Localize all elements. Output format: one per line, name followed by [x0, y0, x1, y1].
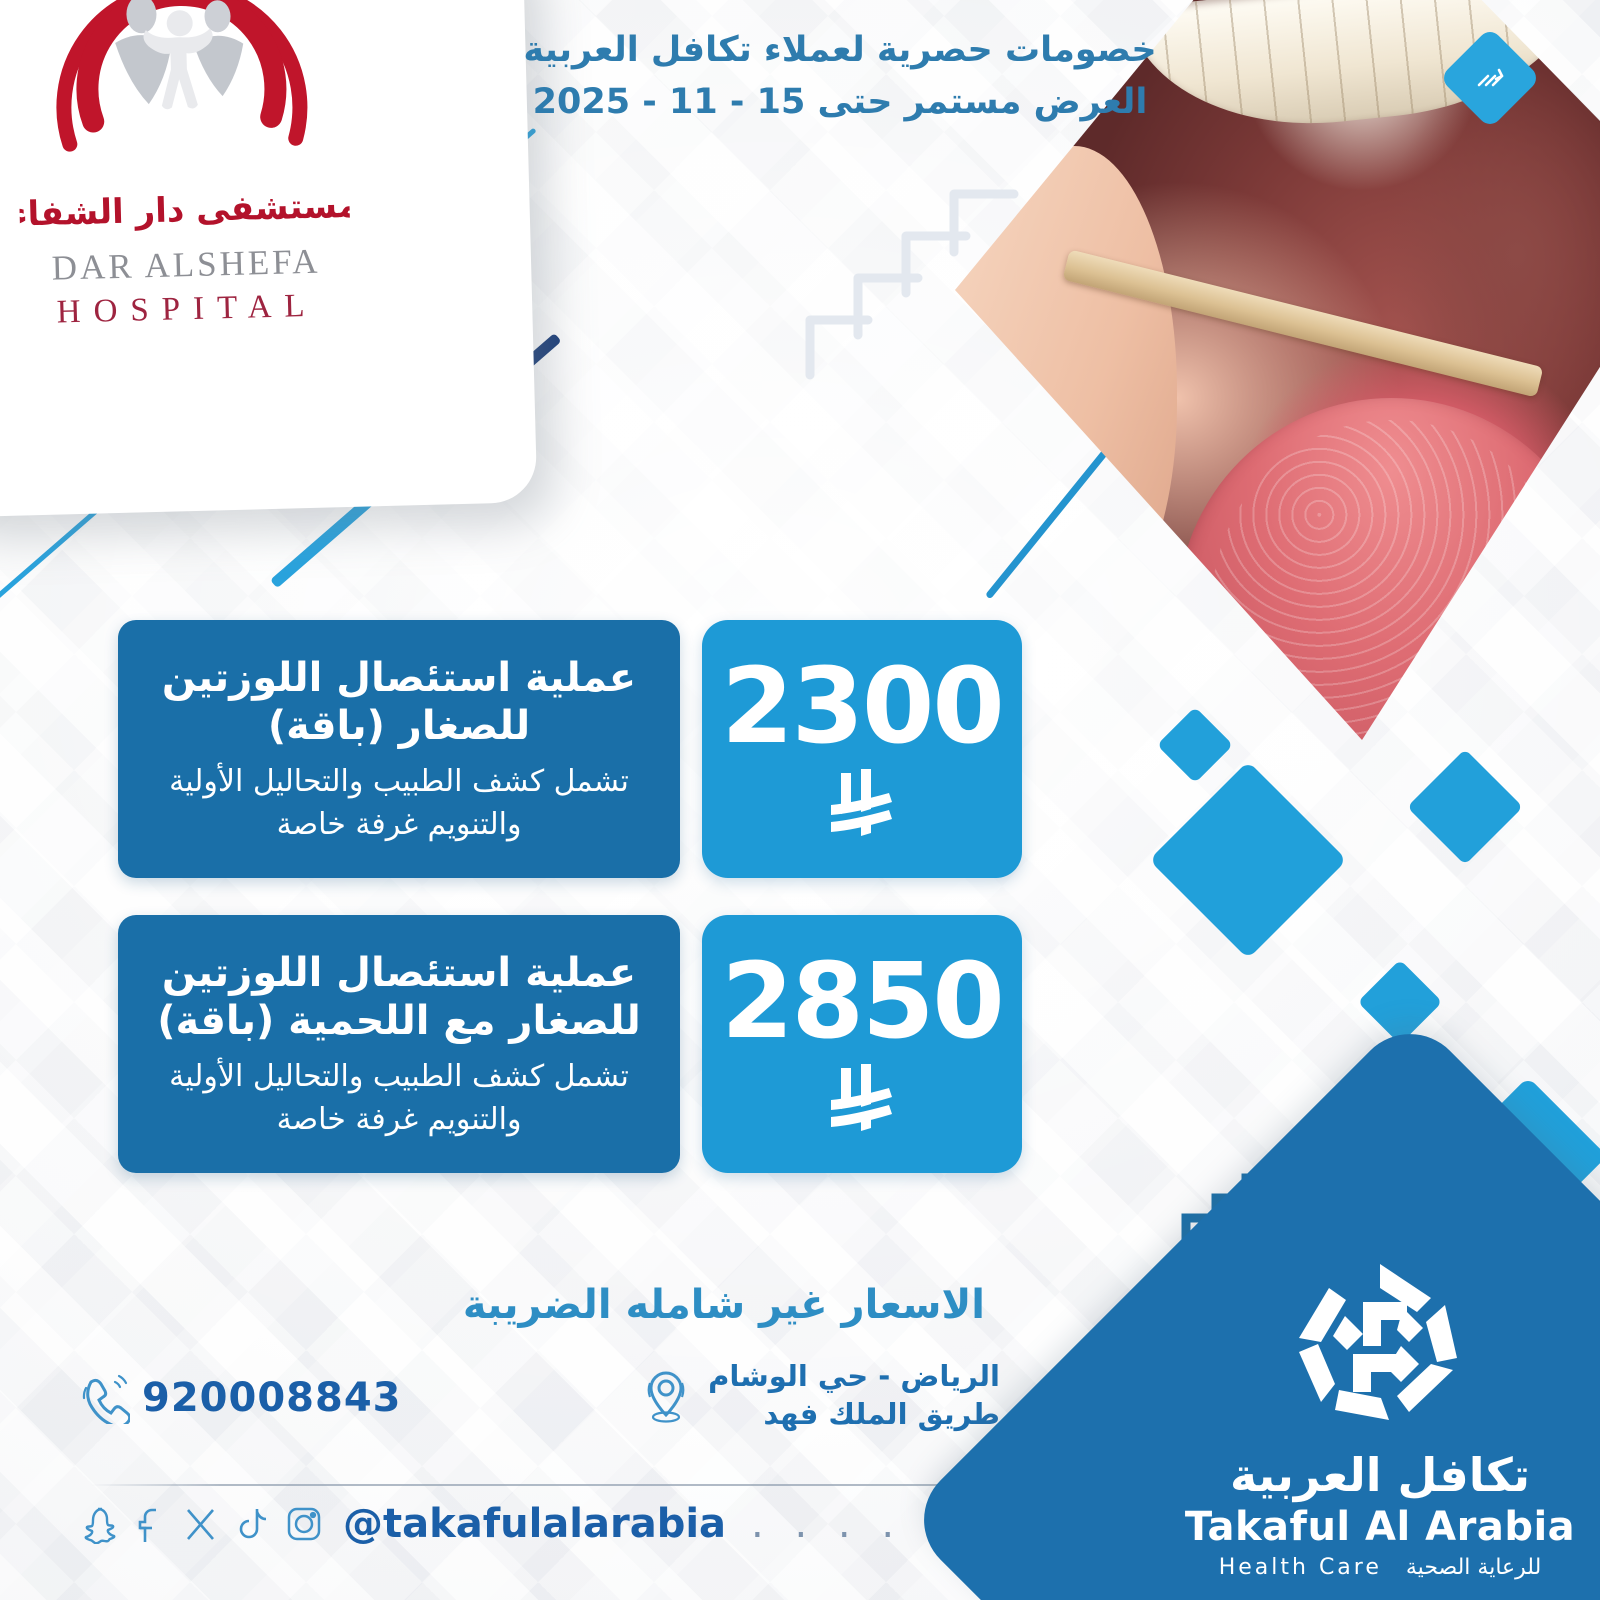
- offer-1-price-box: 2300: [702, 620, 1022, 878]
- address-text: الرياض - حي الوشام طريق الملك فهد: [708, 1358, 1000, 1433]
- snapchat-icon[interactable]: [78, 1504, 118, 1544]
- takaful-name-arabic: تكافل العربية: [1180, 1448, 1580, 1502]
- takaful-tagline-en: Health Care: [1219, 1555, 1382, 1580]
- arrow-chevrons-icon: [1475, 65, 1505, 91]
- family-people-crescent-icon: [43, 0, 318, 185]
- hospital-name-en-line2: HOSPITAL: [52, 288, 322, 332]
- offer-1-price: 2300: [721, 657, 1002, 756]
- social-handle[interactable]: @takafulalarabia: [343, 1501, 726, 1547]
- promo-line-1: خصومات حصرية لعملاء تكافل العربية: [520, 28, 1160, 74]
- svg-text:مستشفى دار الشفاء: مستشفى دار الشفاء: [19, 186, 350, 235]
- takaful-logo-block: تكافل العربية Takaful Al Arabia Health C…: [1180, 1250, 1580, 1580]
- offer-2-title: عملية استئصال اللوزتين للصغار مع اللحمية…: [144, 950, 654, 1044]
- offer-row-1: 2300 عملية استئصال اللوزتين للصغار (باقة…: [118, 620, 1022, 878]
- hospital-name-arabic-text: مستشفى دار الشفاء: [19, 181, 350, 238]
- tiktok-icon[interactable]: [233, 1504, 271, 1544]
- offer-1-subtitle: تشمل كشف الطبيب والتحاليل الأولية والتنو…: [144, 760, 654, 847]
- hospital-phone-block[interactable]: 920008843: [78, 1372, 402, 1424]
- instagram-icon[interactable]: [284, 1504, 324, 1544]
- facebook-icon[interactable]: [131, 1504, 169, 1544]
- hospital-name-en-line1: DAR ALSHEFA: [51, 242, 321, 289]
- tax-note: الاسعار غير شامله الضريبة: [463, 1282, 985, 1328]
- promo-line-2: العرض مستمر حتى 15 - 11 - 2025: [520, 80, 1160, 126]
- offer-2-price: 2850: [721, 952, 1002, 1051]
- hospital-logo-card: مستشفى دار الشفاء DAR ALSHEFA HOSPITAL: [0, 0, 537, 518]
- takaful-tagline: Health Care للرعاية الصحية: [1180, 1555, 1580, 1580]
- pinwheel-star-icon: [1285, 1250, 1475, 1430]
- x-twitter-icon[interactable]: [182, 1505, 220, 1543]
- takaful-name-english: Takaful Al Arabia: [1180, 1504, 1580, 1550]
- saudi-riyal-symbol: [825, 1060, 899, 1136]
- offer-1-desc-box: عملية استئصال اللوزتين للصغار (باقة) تشم…: [118, 620, 680, 878]
- hospital-name-arabic: مستشفى دار الشفاء: [19, 181, 350, 238]
- offer-2-desc-box: عملية استئصال اللوزتين للصغار مع اللحمية…: [118, 915, 680, 1173]
- hospital-phone-number: 920008843: [142, 1375, 402, 1421]
- takaful-tagline-ar: للرعاية الصحية: [1406, 1555, 1541, 1580]
- address-line-1: الرياض - حي الوشام: [708, 1358, 1000, 1396]
- address-block: الرياض - حي الوشام طريق الملك فهد: [638, 1358, 1000, 1433]
- address-line-2: طريق الملك فهد: [708, 1396, 1000, 1434]
- poster-root: مستشفى دار الشفاء DAR ALSHEFA HOSPITAL خ…: [0, 0, 1600, 1600]
- offer-2-subtitle: تشمل كشف الطبيب والتحاليل الأولية والتنو…: [144, 1055, 654, 1142]
- saudi-riyal-symbol: [825, 765, 899, 841]
- offer-row-2: 2850 عملية استئصال اللوزتين للصغار مع ال…: [118, 915, 1022, 1173]
- offer-2-price-box: 2850: [702, 915, 1022, 1173]
- map-pin-icon: [638, 1365, 694, 1427]
- promo-header: خصومات حصرية لعملاء تكافل العربية العرض …: [520, 28, 1160, 125]
- phone-ringing-icon: [78, 1372, 130, 1424]
- offer-1-title: عملية استئصال اللوزتين للصغار (باقة): [144, 655, 654, 749]
